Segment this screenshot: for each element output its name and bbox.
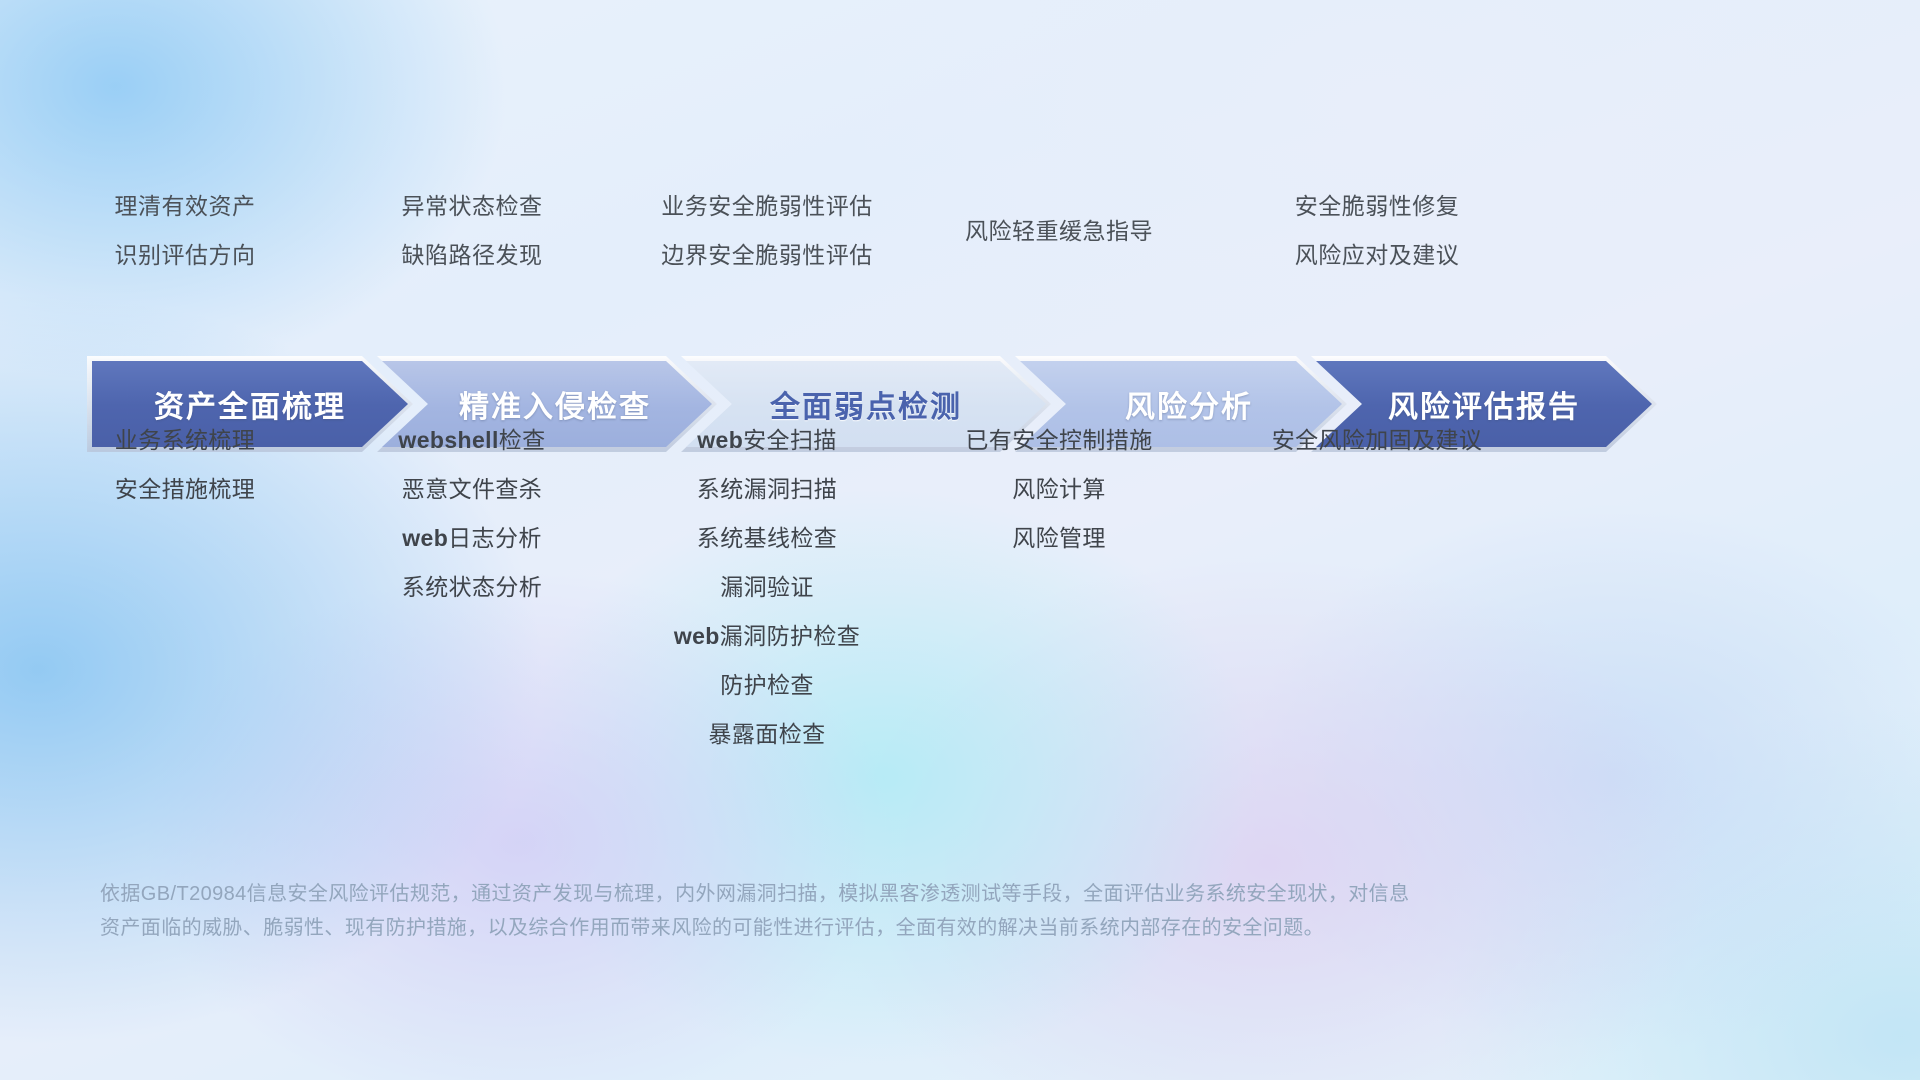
bottom-note-item: 安全风险加固及建议 bbox=[1162, 416, 1592, 465]
bottom-note-item: 暴露面检查 bbox=[552, 710, 982, 759]
top-note-item: 风险应对及建议 bbox=[1177, 231, 1577, 280]
footer-line-2: 资产面临的威胁、脆弱性、现有防护措施，以及综合作用而带来风险的可能性进行评估，全… bbox=[100, 911, 1640, 945]
top-notes-row: 理清有效资产识别评估方向异常状态检查缺陷路径发现业务安全脆弱性评估边界安全脆弱性… bbox=[0, 182, 1920, 292]
footer-line-1: 依据GB/T20984信息安全风险评估规范，通过资产发现与梳理，内外网漏洞扫描，… bbox=[100, 877, 1640, 911]
top-note-item: 安全脆弱性修复 bbox=[1177, 182, 1577, 231]
bottom-note-item: 风险管理 bbox=[844, 514, 1274, 563]
bottom-note-latin: web bbox=[697, 427, 743, 453]
bottom-note-latin: webshell bbox=[398, 427, 498, 453]
bottom-note-item: 漏洞验证 bbox=[552, 563, 982, 612]
bottom-notes-risk-report: 安全风险加固及建议 bbox=[1162, 416, 1592, 465]
bottom-note-latin: web bbox=[402, 525, 448, 551]
bottom-note-item: 风险计算 bbox=[844, 465, 1274, 514]
bottom-note-item: 防护检查 bbox=[552, 661, 982, 710]
bottom-note-latin: web bbox=[674, 623, 720, 649]
top-notes-risk-report: 安全脆弱性修复风险应对及建议 bbox=[1177, 182, 1577, 280]
footer-description: 依据GB/T20984信息安全风险评估规范，通过资产发现与梳理，内外网漏洞扫描，… bbox=[100, 877, 1640, 945]
slide-canvas: 理清有效资产识别评估方向异常状态检查缺陷路径发现业务安全脆弱性评估边界安全脆弱性… bbox=[0, 0, 1920, 1080]
bottom-note-item: web漏洞防护检查 bbox=[552, 612, 982, 661]
